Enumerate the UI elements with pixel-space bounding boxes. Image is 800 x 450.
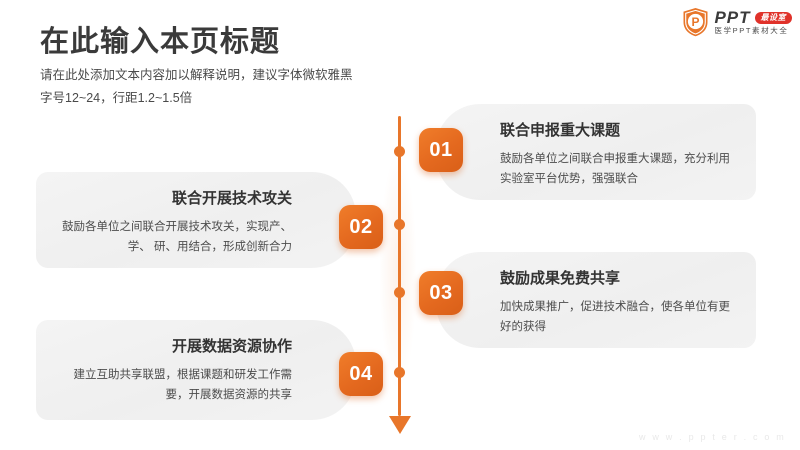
svg-text:P: P bbox=[692, 15, 700, 29]
card-description: 建立互助共享联盟，根据课题和研发工作需要，开展数据资源的共享 bbox=[58, 365, 292, 405]
shield-icon: P bbox=[682, 7, 709, 37]
card-description: 加快成果推广，促进技术融合，使各单位有更好的获得 bbox=[500, 297, 734, 337]
timeline-dot-2 bbox=[394, 219, 405, 230]
page-subtitle: 请在此处添加文本内容加以解释说明，建议字体微软雅黑 字号12~24，行距1.2~… bbox=[40, 64, 353, 110]
step-badge-03[interactable]: 03 bbox=[419, 271, 463, 315]
timeline-dot-4 bbox=[394, 367, 405, 378]
timeline-dot-1 bbox=[394, 146, 405, 157]
content-card-03[interactable]: 鼓励成果免费共享 加快成果推广，促进技术融合，使各单位有更好的获得 bbox=[436, 252, 756, 348]
card-title: 鼓励成果免费共享 bbox=[500, 270, 734, 288]
site-watermark: w w w . p p t e r . c o m bbox=[639, 432, 786, 442]
content-card-04[interactable]: 开展数据资源协作 建立互助共享联盟，根据课题和研发工作需要，开展数据资源的共享 bbox=[36, 320, 356, 420]
step-badge-02[interactable]: 02 bbox=[339, 205, 383, 249]
logo-brand: PPT bbox=[714, 9, 750, 26]
content-card-01[interactable]: 联合申报重大课题 鼓励各单位之间联合申报重大课题，充分利用实验室平台优势，强强联… bbox=[436, 104, 756, 200]
card-description: 鼓励各单位之间联合申报重大课题，充分利用实验室平台优势，强强联合 bbox=[500, 149, 734, 189]
timeline-arrow-icon bbox=[389, 416, 411, 434]
content-card-02[interactable]: 联合开展技术攻关 鼓励各单位之间联合开展技术攻关，实现产、学、 研、用结合，形成… bbox=[36, 172, 356, 268]
card-title: 联合申报重大课题 bbox=[500, 122, 734, 140]
slide-canvas: 在此输入本页标题 请在此处添加文本内容加以解释说明，建议字体微软雅黑 字号12~… bbox=[0, 0, 800, 450]
timeline-axis bbox=[394, 116, 406, 434]
card-title: 开展数据资源协作 bbox=[58, 338, 292, 356]
step-badge-04[interactable]: 04 bbox=[339, 352, 383, 396]
card-description: 鼓励各单位之间联合开展技术攻关，实现产、学、 研、用结合，形成创新合力 bbox=[58, 217, 292, 257]
step-badge-01[interactable]: 01 bbox=[419, 128, 463, 172]
logo-text-block: PPT 最设室 医学PPT素材大全 bbox=[714, 9, 792, 35]
timeline-dot-3 bbox=[394, 287, 405, 298]
card-title: 联合开展技术攻关 bbox=[58, 190, 292, 208]
brand-logo[interactable]: P PPT 最设室 医学PPT素材大全 bbox=[682, 6, 792, 38]
page-title: 在此输入本页标题 bbox=[40, 18, 280, 60]
logo-pill-badge: 最设室 bbox=[755, 12, 793, 24]
logo-tagline: 医学PPT素材大全 bbox=[714, 27, 792, 35]
